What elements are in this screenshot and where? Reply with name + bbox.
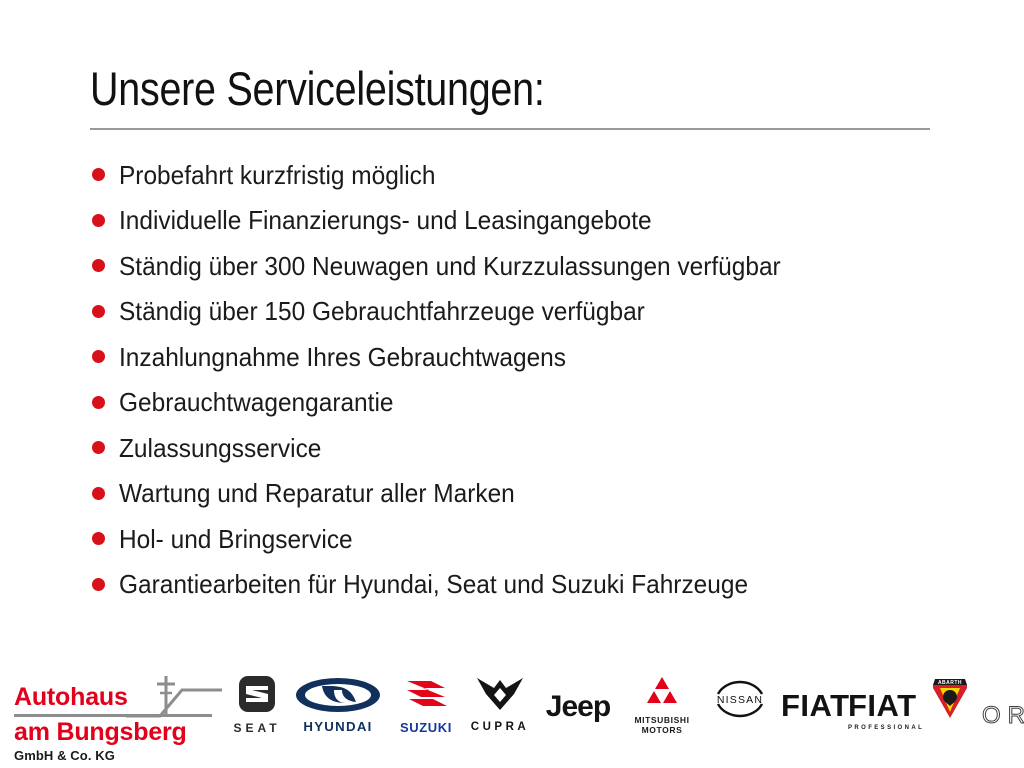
list-item: Gebrauchtwagengarantie: [92, 380, 972, 426]
dealer-logo: Autohaus am Bungsberg GmbH & Co. KG: [14, 672, 224, 764]
cupra-logo-icon: [474, 672, 526, 714]
brand-seat-label: SEAT: [226, 721, 288, 735]
brand-cupra: CUPRA: [461, 672, 539, 733]
list-item: Inzahlungnahme Ihres Gebrauchtwagens: [92, 334, 972, 380]
brand-hyundai: HYUNDAI: [292, 676, 384, 734]
dealer-logo-line3: GmbH & Co. KG: [14, 748, 115, 763]
page-title: Unsere Serviceleistungen:: [90, 62, 796, 116]
bullet-dot-icon: [92, 578, 105, 591]
list-item: Hol- und Bringservice: [92, 516, 972, 562]
list-item-label: Wartung und Reparatur aller Marken: [119, 478, 515, 508]
list-item: Ständig über 150 Gebrauchtfahrzeuge verf…: [92, 289, 972, 335]
list-item: Zulassungsservice: [92, 425, 972, 471]
bullet-dot-icon: [92, 305, 105, 318]
brand-ora-label: ORA: [982, 702, 1024, 729]
brand-ora: ORAGWM: [982, 702, 1024, 730]
footer: Autohaus am Bungsberg GmbH & Co. KG SEAT: [0, 650, 1024, 768]
list-item: Wartung und Reparatur aller Marken: [92, 471, 972, 517]
list-item-label: Hol- und Bringservice: [119, 524, 353, 554]
svg-text:NISSAN: NISSAN: [717, 694, 763, 706]
list-item-label: Probefahrt kurzfristig möglich: [119, 160, 435, 190]
list-item-label: Garantiearbeiten für Hyundai, Seat und S…: [119, 569, 748, 599]
list-item: Probefahrt kurzfristig möglich: [92, 152, 972, 198]
brand-logo-strip: SEAT HYUNDAI SUZUKI: [226, 668, 1016, 758]
brand-jeep: Jeep: [536, 690, 620, 724]
dealer-logo-line1: Autohaus: [14, 684, 128, 711]
bullet-dot-icon: [92, 214, 105, 227]
bullet-dot-icon: [92, 259, 105, 272]
dealer-logo-line2: am Bungsberg: [14, 719, 187, 746]
brand-hyundai-label: HYUNDAI: [289, 720, 387, 734]
svg-text:ABARTH: ABARTH: [938, 680, 962, 686]
bullet-dot-icon: [92, 532, 105, 545]
list-item-label: Inzahlungnahme Ihres Gebrauchtwagens: [119, 342, 566, 372]
nissan-logo-icon: NISSAN: [706, 676, 774, 722]
brand-fiat-professional-label: FIAT: [848, 688, 917, 723]
brand-fiat-professional-sublabel: PROFESSIONAL: [848, 725, 916, 731]
brand-mitsubishi-label-1: MITSUBISHI: [626, 715, 698, 725]
list-item: Ständig über 300 Neuwagen und Kurzzulass…: [92, 243, 972, 289]
list-item-label: Gebrauchtwagengarantie: [119, 387, 393, 417]
list-item-label: Ständig über 300 Neuwagen und Kurzzulass…: [119, 251, 781, 281]
list-item-label: Individuelle Finanzierungs- und Leasinga…: [119, 205, 652, 235]
brand-fiat: FIAT: [781, 688, 843, 724]
slide-root: Unsere Serviceleistungen: Probefahrt kur…: [0, 0, 1024, 768]
brand-fiat-professional: FIAT PROFESSIONAL: [848, 688, 916, 731]
bullet-dot-icon: [92, 396, 105, 409]
brand-mitsubishi-label-2: MOTORS: [626, 725, 698, 735]
bullet-dot-icon: [92, 441, 105, 454]
list-item-label: Ständig über 150 Gebrauchtfahrzeuge verf…: [119, 296, 645, 326]
brand-suzuki-label: SUZUKI: [386, 720, 466, 735]
brand-nissan: NISSAN: [704, 676, 776, 727]
title-block: Unsere Serviceleistungen:: [90, 62, 930, 130]
hyundai-logo-icon: [294, 676, 382, 714]
brand-jeep-label: Jeep: [546, 690, 610, 723]
abarth-logo-icon: ABARTH: [927, 676, 973, 724]
seat-logo-icon: [237, 674, 277, 714]
list-item: Individuelle Finanzierungs- und Leasinga…: [92, 198, 972, 244]
brand-abarth: ABARTH: [924, 676, 976, 729]
title-divider: [90, 128, 930, 130]
dealer-logo-rule: [14, 714, 212, 717]
brand-seat: SEAT: [226, 674, 288, 735]
brand-cupra-label: CUPRA: [461, 721, 539, 733]
brand-mitsubishi: MITSUBISHI MOTORS: [626, 674, 698, 735]
list-item-label: Zulassungsservice: [119, 433, 321, 463]
brand-suzuki: SUZUKI: [386, 674, 466, 735]
services-list: Probefahrt kurzfristig möglich Individue…: [92, 152, 972, 607]
list-item: Garantiearbeiten für Hyundai, Seat und S…: [92, 562, 972, 608]
brand-fiat-label: FIAT: [781, 688, 850, 723]
bullet-dot-icon: [92, 168, 105, 181]
mitsubishi-logo-icon: [642, 674, 682, 708]
suzuki-logo-icon: [403, 674, 449, 714]
bullet-dot-icon: [92, 350, 105, 363]
bullet-dot-icon: [92, 487, 105, 500]
